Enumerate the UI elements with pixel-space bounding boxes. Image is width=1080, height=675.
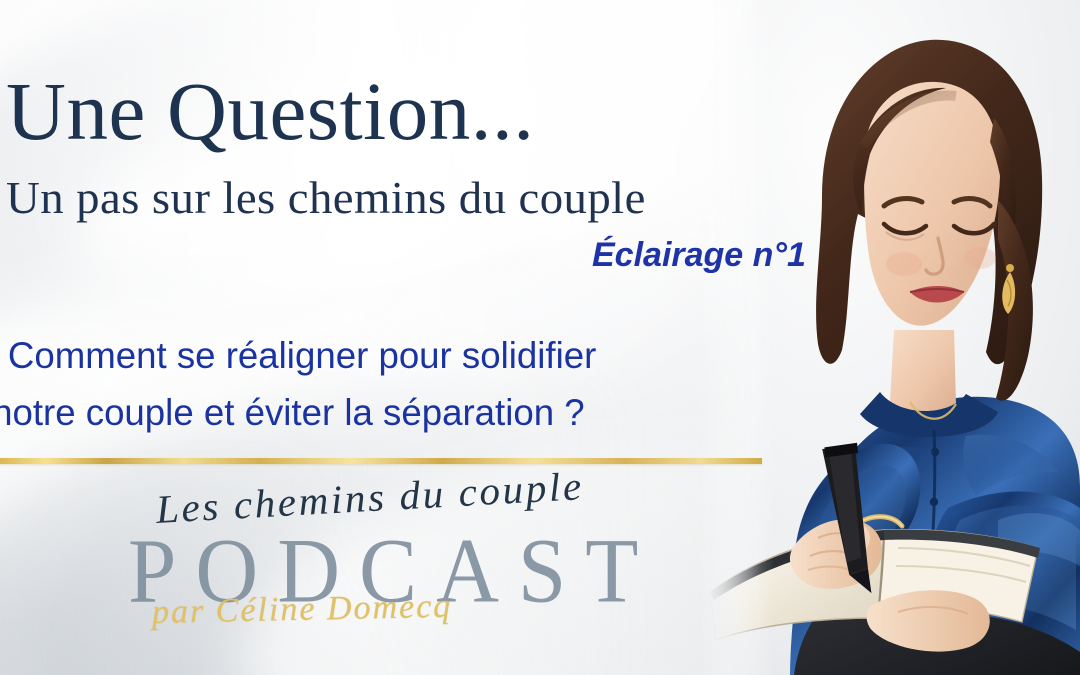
host-photo (698, 0, 1080, 675)
episode-question: Comment se réaligner pour solidifier not… (0, 327, 596, 441)
episode-label: Éclairage n°1 (592, 238, 806, 272)
host-byline: par Céline Domecq (152, 590, 453, 630)
podcast-cover: Une Question... Un pas sur les chemins d… (0, 0, 1080, 675)
page-subtitle: Un pas sur les chemins du couple (6, 176, 646, 221)
gold-divider (0, 458, 762, 464)
page-title: Une Question... (6, 70, 534, 153)
podcast-logo-lockup: PODCAST Les chemins du couple par Céline… (128, 492, 628, 642)
question-line-2: notre couple et éviter la séparation ? (0, 384, 596, 441)
question-line-1: Comment se réaligner pour solidifier (0, 327, 596, 384)
